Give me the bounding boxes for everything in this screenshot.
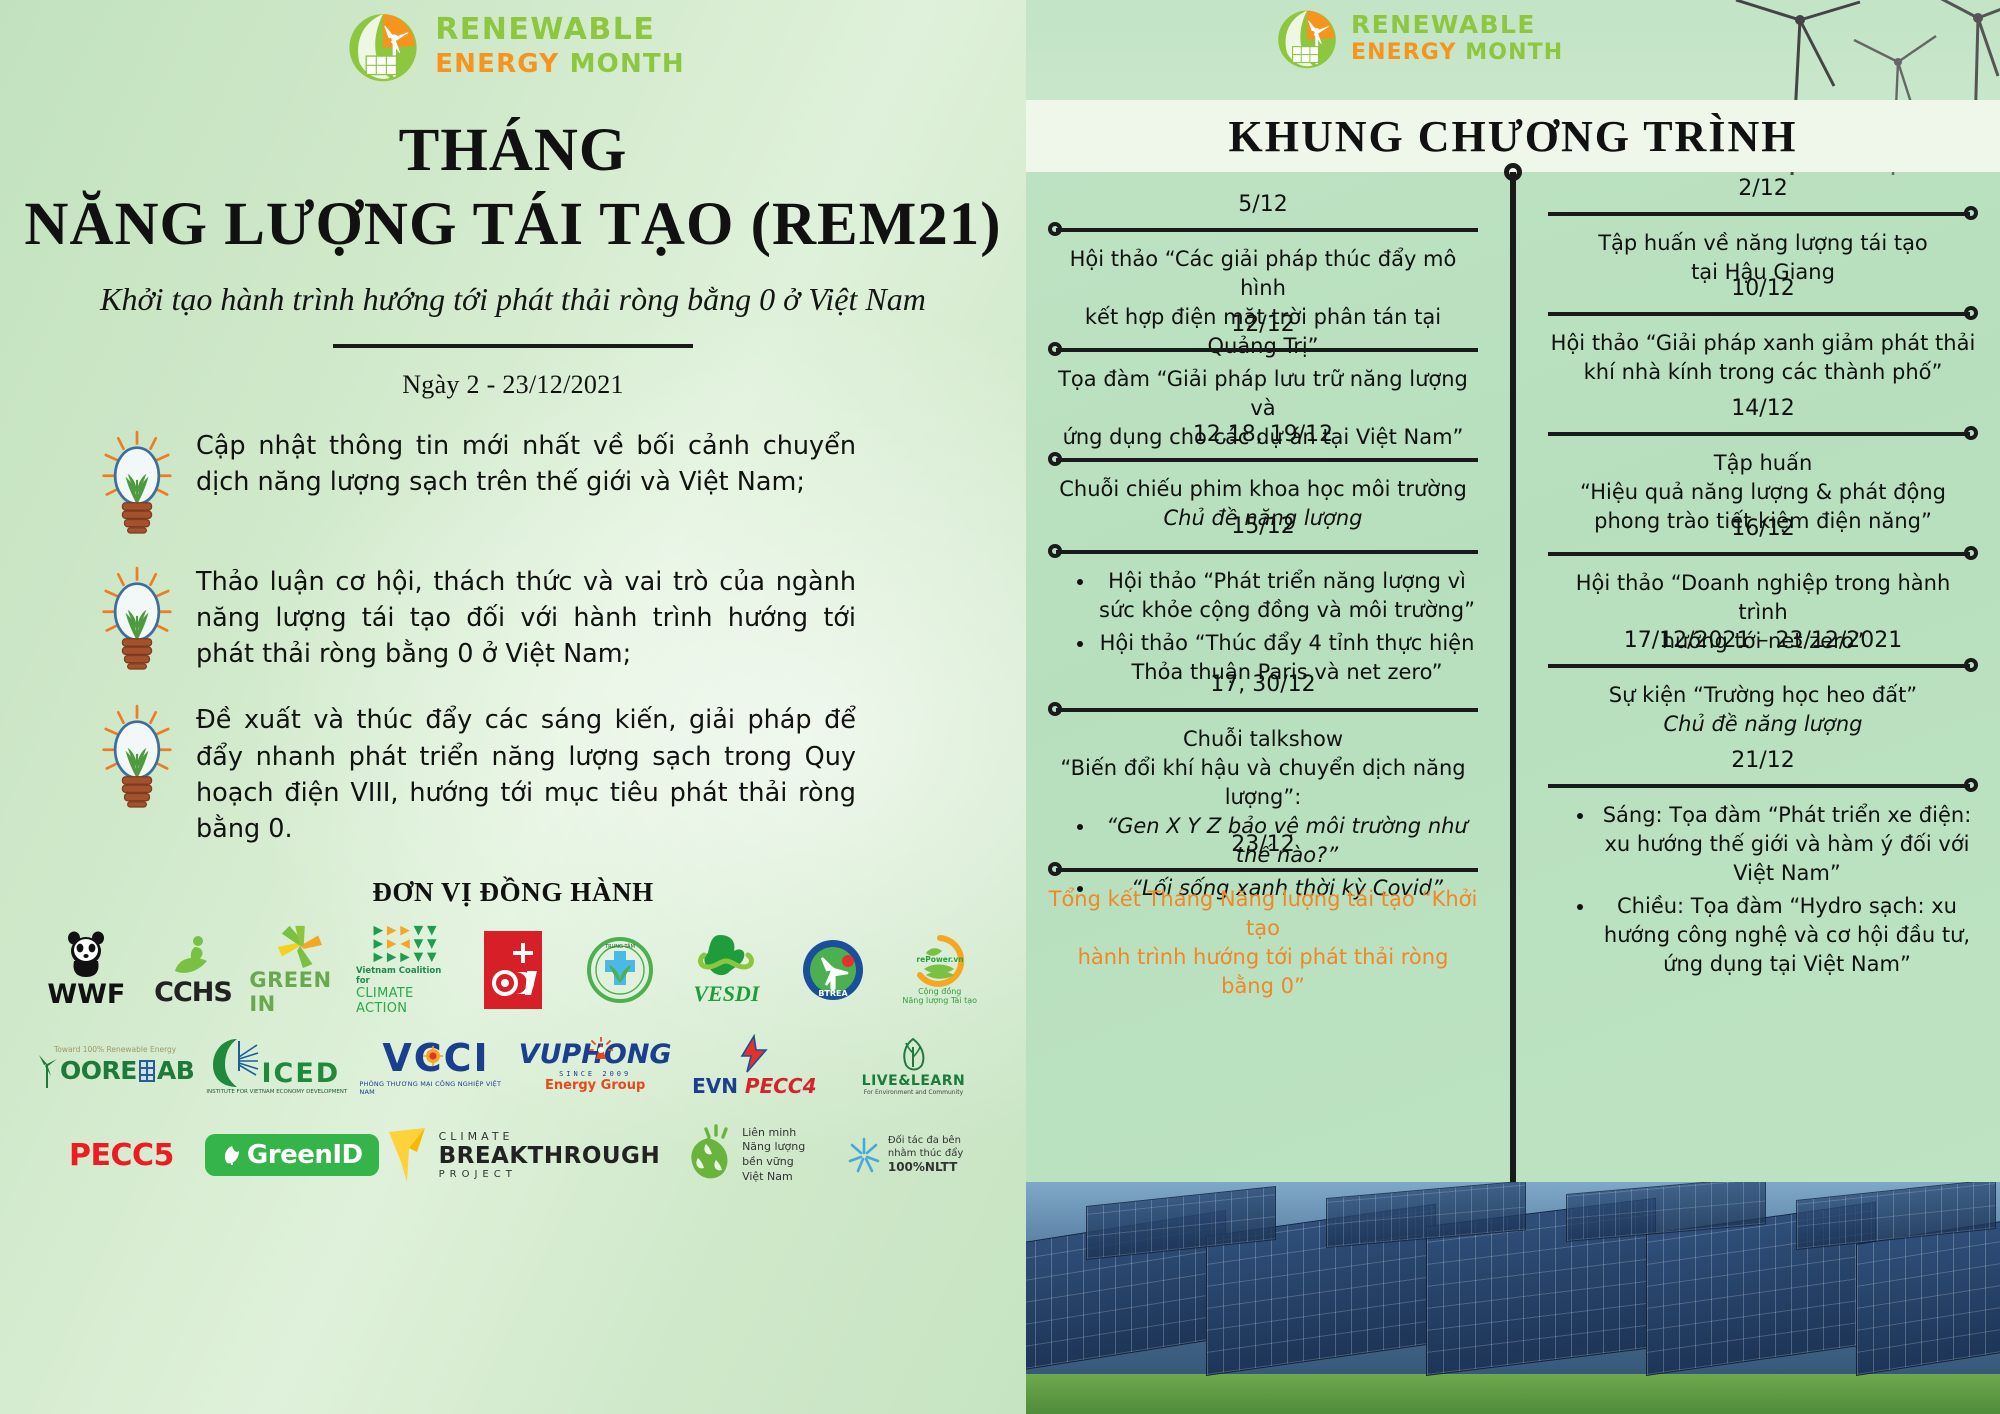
partner-logo-sublabel: CLIMATE ACTION <box>356 986 457 1016</box>
timeline-event: 15/12 Hội thảo “Phát triển năng lượng vì… <box>1048 514 1478 691</box>
event-connector <box>1048 453 1478 467</box>
cchs-figure-icon <box>169 933 217 977</box>
partner-logo-evn-pecc4: EVN PECC4 <box>678 1026 831 1106</box>
partner-logo-repower: rePower.vn Cộng đồng Năng lượng Tái tạo <box>889 924 990 1016</box>
partner-logo-label: ICED <box>261 1058 340 1089</box>
event-connector <box>1548 427 1978 441</box>
event-connector <box>1548 659 1978 673</box>
partner-logo-label2: AB <box>157 1056 194 1085</box>
sun-turbine-icon <box>589 1037 613 1061</box>
vsea-tree-icon <box>682 1124 736 1186</box>
iced-mark-icon <box>213 1037 259 1089</box>
lightbulb-icon <box>100 430 174 534</box>
event-connector <box>1048 545 1478 559</box>
objective-item: Thảo luận cơ hội, thách thức và vai trò … <box>100 564 986 673</box>
objectives-list: Cập nhật thông tin mới nhất về bối cảnh … <box>22 428 1004 847</box>
objective-item: Đề xuất và thúc đẩy các sáng kiến, giải … <box>100 702 986 847</box>
panda-icon <box>58 931 114 979</box>
partner-logo-label3: PROJECT <box>439 1169 517 1180</box>
partner-logo-label1: CLIMATE <box>439 1130 514 1143</box>
partner-logo-vcca: Vietnam Coalition for CLIMATE ACTION <box>356 924 457 1016</box>
partner-logo-label: GreenID <box>247 1140 363 1170</box>
leaf-hand-icon <box>896 1037 930 1073</box>
partner-logo-label: Vietnam Coalition for <box>356 966 457 986</box>
partner-logo-sublabel: Cộng đồng <box>918 987 961 996</box>
logo-line-2-month: MONTH <box>570 49 685 79</box>
event-date: 17, 30/12 <box>1048 672 1478 697</box>
objective-text: Cập nhật thông tin mới nhất về bối cảnh … <box>196 428 856 500</box>
partner-logo-label: EVN PECC4 <box>692 1074 816 1098</box>
grass-strip <box>1026 1374 2000 1414</box>
vesdi-mark-icon <box>696 933 756 981</box>
partner-logo-label: Liên minh Năng lượng bền vững Việt Nam <box>742 1126 805 1185</box>
renewable-energy-month-logo-icon <box>341 4 425 88</box>
lightbulb-icon <box>100 704 174 808</box>
title-line-1: THÁNG <box>24 114 1001 188</box>
partner-logo-label: CCHS <box>154 977 232 1008</box>
timeline-cap-top <box>1504 163 1522 181</box>
partner-logo-oorelab: Toward 100% Renewable Energy OORE <box>36 1026 194 1106</box>
partner-logo-label: GREEN IN <box>249 968 350 1016</box>
wind-turbine-icon <box>36 1054 58 1088</box>
objective-text: Đề xuất và thúc đẩy các sáng kiến, giải … <box>196 702 856 847</box>
page-title: THÁNG NĂNG LƯỢNG TÁI TẠO (REM21) <box>24 114 1001 263</box>
event-connector <box>1048 223 1478 237</box>
schedule-heading: KHUNG CHƯƠNG TRÌNH <box>1229 111 1798 162</box>
event-body: Hội thảo “Giải pháp xanh giảm phát thải … <box>1548 329 1978 387</box>
svg-text:TRUNG TÂM: TRUNG TÂM <box>604 943 635 950</box>
pinwheel-icon <box>273 924 327 968</box>
event-connector <box>1548 207 1978 221</box>
event-date: 12,18, 19/12 <box>1048 422 1478 447</box>
event-date: 10/12 <box>1548 276 1978 301</box>
greenid-badge: GreenID <box>205 1134 379 1176</box>
solar-farm-illustration <box>1026 1182 2000 1414</box>
event-dateline: Ngày 2 - 23/12/2021 <box>402 370 624 400</box>
timeline-event: 14/12 Tập huấn “Hiệu quả năng lượng & ph… <box>1548 396 1978 536</box>
partner-logo-cchs: CCHS <box>143 924 244 1016</box>
partner-logo-pecc5: PECC5 <box>44 1116 199 1194</box>
event-connector <box>1548 779 1978 793</box>
partner-logo-wwf: WWF <box>36 924 137 1016</box>
repower-icon: rePower.vn <box>912 935 968 987</box>
logo-line-2-energy: ENERGY <box>435 49 559 79</box>
lightbulb-icon <box>100 566 174 670</box>
divider-rule <box>333 344 693 348</box>
partner-logo-greenid: GreenID <box>205 1116 379 1194</box>
partner-logo-vcci: VCCI PHÒNG THƯƠNG MẠI CÔNG NGHIỆP VIỆT N… <box>359 1026 512 1106</box>
logo-line-2-month: MONTH <box>1465 40 1563 65</box>
event-date: 5/12 <box>1048 192 1478 217</box>
partner-logo-iced: ICED INSTITUTE FOR VIETNAM ECONOMY DEVEL… <box>200 1026 353 1106</box>
event-date: 16/12 <box>1548 516 1978 541</box>
timeline-event: 10/12 Hội thảo “Giải pháp xanh giảm phát… <box>1548 276 1978 387</box>
partner-logo-vesdi: VESDI <box>676 924 777 1016</box>
partner-logo-tagline: Toward 100% Renewable Energy <box>54 1045 176 1054</box>
svg-text:BTREA: BTREA <box>818 989 848 998</box>
logo-line-1: RENEWABLE <box>1351 12 1563 37</box>
partner-logo-vuphong: VUPHONG SINCE 2009 Energy Group <box>519 1026 672 1106</box>
partner-logo-label: LIVE&LEARN <box>862 1073 966 1089</box>
logo-line-2-energy: ENERGY <box>1351 40 1457 65</box>
svg-text:rePower.vn: rePower.vn <box>916 955 963 964</box>
partner-logo-row: Toward 100% Renewable Energy OORE <box>36 1026 990 1106</box>
program-timeline: 2/12 Tập huấn về năng lượng tái tạo tại … <box>1026 172 2000 1232</box>
schedule-banner: KHUNG CHƯƠNG TRÌNH <box>1026 100 2000 172</box>
qdv-red-box <box>484 931 542 1009</box>
event-connector <box>1048 343 1478 357</box>
partner-logo-sublabel2: Năng lượng Tái tạo <box>902 996 977 1005</box>
partner-logo-label: Đối tác đa bên nhằm thúc đẩy 100%NLTT <box>888 1134 963 1176</box>
timeline-event: 2/12 Tập huấn về năng lượng tái tạo tại … <box>1548 176 1978 287</box>
starburst-icon <box>846 1135 882 1175</box>
partner-logo-row: PECC5 GreenID <box>36 1116 990 1194</box>
sun-icon <box>423 1046 443 1066</box>
event-body: Sáng: Tọa đàm “Phát triển xe điện: xu hư… <box>1548 801 1978 979</box>
event-date: 17/12/2021 – 23/12/2021 <box>1548 628 1978 653</box>
partner-logo-vsea: Liên minh Năng lượng bền vững Việt Nam <box>666 1116 821 1194</box>
page-subtitle: Khởi tạo hành trình hướng tới phát thải … <box>100 281 926 318</box>
partners-heading: ĐƠN VỊ ĐỒNG HÀNH <box>372 877 653 908</box>
rem-logo-right: RENEWABLE ENERGY MONTH <box>1271 2 1563 74</box>
event-connector <box>1548 307 1978 321</box>
partner-logo-sublabel: For Environment and Community <box>864 1089 963 1096</box>
event-date: 21/12 <box>1548 748 1978 773</box>
timeline-event: 17/12/2021 – 23/12/2021 Sự kiện “Trường … <box>1548 628 1978 739</box>
partner-logo-label2: BREAKTHROUGH <box>439 1143 661 1169</box>
partner-logo-grid: WWF CCHS <box>22 924 1004 1194</box>
partner-logo-row: WWF CCHS <box>36 924 990 1016</box>
btrea-seal-icon: BTREA <box>802 939 864 1001</box>
event-connector <box>1048 863 1478 877</box>
partner-logo-live-and-learn: LIVE&LEARN For Environment and Community <box>837 1026 990 1106</box>
event-connector <box>1048 703 1478 717</box>
triangles-icon <box>370 924 442 966</box>
poster-root: RENEWABLE ENERGY MONTH THÁNG NĂNG LƯỢNG … <box>0 0 2000 1414</box>
building-icon <box>139 1060 155 1082</box>
event-connector <box>1548 547 1978 561</box>
timeline-event: 23/12 Tổng kết Tháng Năng lượng tái tạo … <box>1048 832 1478 1001</box>
right-panel: RENEWABLE ENERGY MONTH <box>1026 0 2000 1414</box>
partner-logo-100nltt: Đối tác đa bên nhằm thúc đẩy 100%NLTT <box>827 1116 982 1194</box>
rem-logo: RENEWABLE ENERGY MONTH <box>341 4 685 88</box>
logo-line-1: RENEWABLE <box>435 15 685 45</box>
event-body: Hội thảo “Phát triển năng lượng vì sức k… <box>1048 567 1478 687</box>
title-line-2: NĂNG LƯỢNG TÁI TẠO (REM21) <box>24 188 1001 262</box>
partner-logo-qdv <box>463 924 564 1016</box>
partner-logo-since: SINCE 2009 <box>559 1070 631 1078</box>
partner-logo-label: VESDI <box>693 981 759 1007</box>
partner-logo-climate-breakthrough: CLIMATE BREAKTHROUGH PROJECT <box>385 1116 661 1194</box>
objective-item: Cập nhật thông tin mới nhất về bối cảnh … <box>100 428 986 534</box>
leaf-icon <box>221 1143 243 1167</box>
partner-logo-label: PECC5 <box>69 1138 174 1173</box>
left-panel: RENEWABLE ENERGY MONTH THÁNG NĂNG LƯỢNG … <box>0 0 1026 1414</box>
partner-logo-sublabel: PHÒNG THƯƠNG MẠI CÔNG NGHIỆP VIỆT NAM <box>359 1080 512 1096</box>
event-date: 2/12 <box>1548 176 1978 201</box>
partner-logo-trungtam: TRUNG TÂM <box>569 924 670 1016</box>
timeline-event: 21/12 Sáng: Tọa đàm “Phát triển xe điện:… <box>1548 748 1978 983</box>
partner-logo-btrea: BTREA <box>783 924 884 1016</box>
partner-logo-label: OORE <box>60 1056 137 1085</box>
event-date: 14/12 <box>1548 396 1978 421</box>
trungtam-seal-icon: TRUNG TÂM <box>587 937 653 1003</box>
event-date: 15/12 <box>1048 514 1478 539</box>
event-date: 12/12 <box>1048 312 1478 337</box>
event-body: Sự kiện “Trường học heo đất” Chủ đề năng… <box>1548 681 1978 739</box>
partner-logo-sublabel: Energy Group <box>545 1078 645 1093</box>
evn-flash-icon <box>737 1034 771 1074</box>
partner-logo-greenin: GREEN IN <box>249 924 350 1016</box>
yellow-flag-icon <box>385 1126 431 1184</box>
objective-text: Thảo luận cơ hội, thách thức và vai trò … <box>196 564 856 673</box>
partner-logo-label: WWF <box>47 979 125 1010</box>
renewable-energy-month-logo-icon <box>1271 2 1343 74</box>
qdv-mark-icon <box>487 935 539 1005</box>
timeline-spine <box>1510 172 1516 1232</box>
event-body: Tổng kết Tháng Năng lượng tái tạo “Khởi … <box>1048 885 1478 1001</box>
event-date: 23/12 <box>1048 832 1478 857</box>
partner-logo-sublabel: INSTITUTE FOR VIETNAM ECONOMY DEVELOPMEN… <box>206 1089 347 1095</box>
